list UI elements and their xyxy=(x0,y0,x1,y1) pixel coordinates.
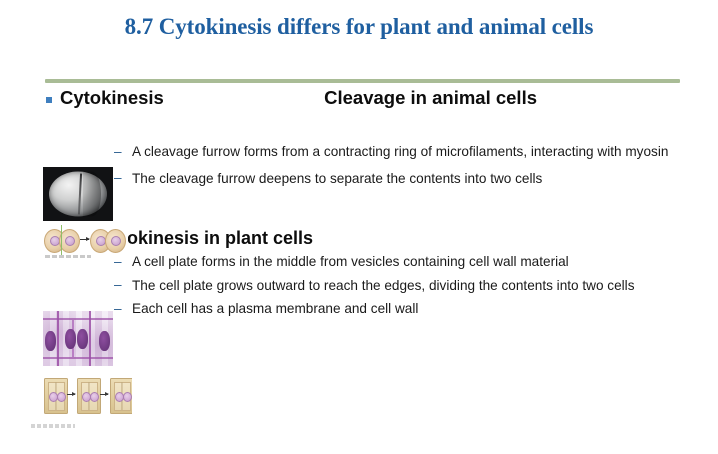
list-item: – Each cell has a plasma membrane and ce… xyxy=(110,301,690,318)
nucleus-shape xyxy=(45,331,56,351)
cell-wall-shape xyxy=(43,318,113,320)
animal-cell-shape xyxy=(44,229,65,253)
nucleus-shape xyxy=(111,236,121,246)
nucleus-shape xyxy=(77,329,88,349)
page-title: 8.7 Cytokinesis differs for plant and an… xyxy=(0,14,718,40)
dividing-egg-cell-shape xyxy=(49,172,107,217)
plant-cell-shape xyxy=(44,378,68,414)
list-item: – A cleavage furrow forms from a contrac… xyxy=(110,144,690,161)
cell-wall-shape xyxy=(57,311,59,366)
plant-cytokinesis-diagram-image xyxy=(44,376,132,416)
dash-bullet-icon: – xyxy=(114,144,122,161)
cell-wall-shape xyxy=(89,311,91,366)
plant-cell-shape xyxy=(110,378,132,414)
nucleus-shape xyxy=(90,392,99,402)
slide-body: Cytokinesis Cleavage in animal cells – A… xyxy=(46,88,691,438)
list-item-text: The cell plate grows outward to reach th… xyxy=(132,278,635,293)
animal-cytokinesis-diagram-image xyxy=(42,224,128,258)
level1-label-cleavage-animal: Cleavage in animal cells xyxy=(324,87,537,108)
dash-bullet-icon: – xyxy=(114,277,122,294)
list-item: – The cell plate grows outward to reach … xyxy=(110,278,690,295)
list-item-text: The cleavage furrow deepens to separate … xyxy=(132,171,542,186)
credit-text-placeholder xyxy=(31,424,75,428)
animal-cell-shape xyxy=(105,229,126,253)
list-item-text: A cell plate forms in the middle from ve… xyxy=(132,254,569,269)
arrow-icon xyxy=(67,394,75,395)
dash-bullet-icon: – xyxy=(114,170,122,187)
list-item-text: Each cell has a plasma membrane and cell… xyxy=(132,301,418,316)
arrow-icon xyxy=(80,239,89,240)
animal-cell-micrograph-image xyxy=(43,167,113,221)
nucleus-shape xyxy=(57,392,66,402)
nucleus-shape xyxy=(96,236,106,246)
nucleus-shape xyxy=(50,236,60,246)
title-divider xyxy=(45,79,680,83)
arrow-icon xyxy=(100,394,108,395)
list-item: – A cell plate forms in the middle from … xyxy=(110,254,690,271)
nucleus-shape xyxy=(123,392,132,402)
animal-cell-shape xyxy=(59,229,80,253)
slide: 8.7 Cytokinesis differs for plant and an… xyxy=(0,0,718,454)
square-bullet-icon xyxy=(46,97,52,103)
level1-bullet-row: Cytokinesis Cleavage in animal cells xyxy=(46,88,691,109)
plant-bullet-group: – A cell plate forms in the middle from … xyxy=(110,254,690,323)
plant-cell-shape xyxy=(77,378,101,414)
figure-caption-placeholder xyxy=(45,255,91,258)
level1-label-cytokinesis: Cytokinesis xyxy=(60,87,164,108)
dash-bullet-icon: – xyxy=(114,301,122,318)
plant-section-heading: Cytokinesis in plant cells xyxy=(98,228,313,249)
list-item-text: A cleavage furrow forms from a contracti… xyxy=(132,144,668,159)
animal-bullet-group: – A cleavage furrow forms from a contrac… xyxy=(110,144,690,192)
nucleus-shape xyxy=(65,236,75,246)
cell-wall-shape xyxy=(43,357,113,359)
nucleus-shape xyxy=(99,331,110,351)
list-item: – The cleavage furrow deepens to separat… xyxy=(110,171,690,188)
plant-cell-micrograph-image xyxy=(43,311,113,366)
nucleus-shape xyxy=(65,329,76,349)
